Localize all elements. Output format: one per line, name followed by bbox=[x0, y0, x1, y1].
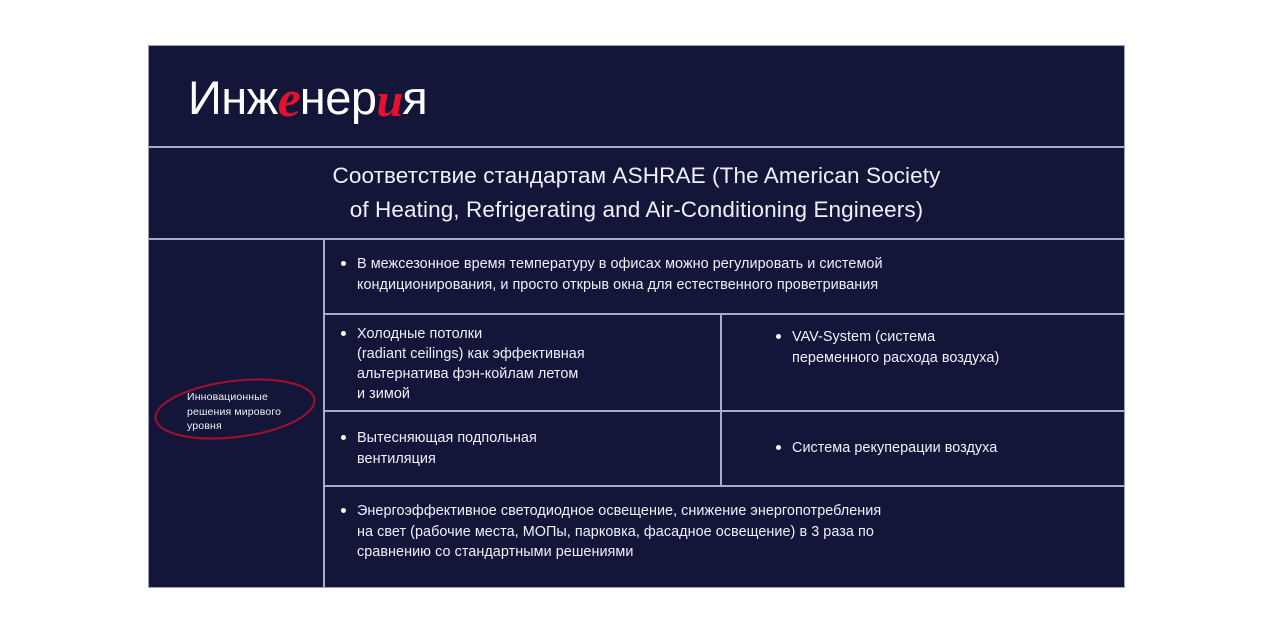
annotation-callout: Инновационные решения мирового уровня bbox=[167, 388, 317, 434]
annotation-line-2: решения мирового bbox=[187, 405, 317, 420]
bullet-row-1: В межсезонное время температуру в офисах… bbox=[325, 240, 1124, 315]
bullet-item: Холодные потолки (radiant ceilings) как … bbox=[341, 324, 585, 404]
bullet-line-1: Энергоэффективное светодиодное освещение… bbox=[357, 503, 881, 519]
bullet-line-1: Холодные потолки bbox=[357, 326, 482, 342]
content-area: Инновационные решения мирового уровня В … bbox=[149, 240, 1124, 587]
bullet-text: Энергоэффективное светодиодное освещение… bbox=[357, 501, 881, 563]
bullet-dot-icon bbox=[776, 334, 781, 339]
bullet-line-2: (radiant ceilings) как эффективная bbox=[357, 346, 585, 362]
bullet-line-2: переменного расхода воздуха) bbox=[792, 350, 999, 366]
bullet-text: Холодные потолки (radiant ceilings) как … bbox=[357, 324, 585, 404]
bullet-item: Система рекуперации воздуха bbox=[776, 438, 997, 459]
bullet-line-4: и зимой bbox=[357, 386, 410, 402]
bullet-row-4: Энергоэффективное светодиодное освещение… bbox=[325, 487, 1124, 587]
logo-band: Инженерия bbox=[149, 46, 1124, 148]
logo-part-4-script: и bbox=[377, 74, 403, 127]
company-logo: Инженерия bbox=[188, 72, 427, 124]
bullet-line-2: вентиляция bbox=[357, 451, 436, 467]
bullet-text: Вытесняющая подпольная вентиляция bbox=[357, 428, 537, 469]
logo-part-3: нер bbox=[300, 71, 377, 124]
bullet-row-3: Вытесняющая подпольная вентиляция Систем… bbox=[325, 412, 1124, 487]
bullet-line-2: на свет (рабочие места, МОПы, парковка, … bbox=[357, 524, 874, 540]
bullet-cell-2-1: Холодные потолки (radiant ceilings) как … bbox=[325, 315, 722, 410]
slide-title-line-1: Соответствие стандартам ASHRAE (The Amer… bbox=[333, 159, 941, 193]
annotation-line-3: уровня bbox=[187, 419, 317, 434]
bullet-line-1: В межсезонное время температуру в офисах… bbox=[357, 256, 883, 272]
bullet-line-1: VAV-System (система bbox=[792, 329, 935, 345]
bullet-item: Энергоэффективное светодиодное освещение… bbox=[341, 501, 881, 563]
bullet-line-1: Система рекуперации воздуха bbox=[792, 440, 997, 456]
bullet-line-1: Вытесняющая подпольная bbox=[357, 430, 537, 446]
annotation-column: Инновационные решения мирового уровня bbox=[149, 240, 325, 587]
bullet-cell-3-1: Вытесняющая подпольная вентиляция bbox=[325, 412, 722, 485]
bullet-cell-3-2: Система рекуперации воздуха bbox=[722, 412, 1124, 485]
bullet-item: VAV-System (система переменного расхода … bbox=[776, 327, 999, 368]
bullet-line-3: сравнению со стандартными решениями bbox=[357, 544, 633, 560]
bullet-cell-4-1: Энергоэффективное светодиодное освещение… bbox=[325, 487, 1124, 587]
bullet-dot-icon bbox=[341, 261, 346, 266]
bullet-cell-2-2: VAV-System (система переменного расхода … bbox=[722, 315, 1124, 410]
bullet-grid: В межсезонное время температуру в офисах… bbox=[325, 240, 1124, 587]
logo-part-2-script: е bbox=[278, 71, 300, 128]
bullet-item: Вытесняющая подпольная вентиляция bbox=[341, 428, 537, 469]
bullet-cell-1-1: В межсезонное время температуру в офисах… bbox=[325, 240, 1124, 313]
slide-title-line-2: of Heating, Refrigerating and Air-Condit… bbox=[350, 193, 924, 227]
bullet-item: В межсезонное время температуру в офисах… bbox=[341, 254, 883, 295]
bullet-dot-icon bbox=[341, 508, 346, 513]
slide-title: Соответствие стандартам ASHRAE (The Amer… bbox=[149, 148, 1124, 240]
bullet-row-2: Холодные потолки (radiant ceilings) как … bbox=[325, 315, 1124, 412]
bullet-text: В межсезонное время температуру в офисах… bbox=[357, 254, 883, 295]
logo-part-5: я bbox=[402, 71, 427, 124]
bullet-text: VAV-System (система переменного расхода … bbox=[792, 327, 999, 368]
page-canvas: Инженерия Соответствие стандартам ASHRAE… bbox=[0, 0, 1280, 639]
bullet-dot-icon bbox=[341, 435, 346, 440]
bullet-text: Система рекуперации воздуха bbox=[792, 438, 997, 459]
bullet-dot-icon bbox=[776, 445, 781, 450]
annotation-line-1: Инновационные bbox=[187, 390, 317, 405]
presentation-slide: Инженерия Соответствие стандартам ASHRAE… bbox=[148, 45, 1125, 588]
bullet-line-2: кондиционирования, и просто открыв окна … bbox=[357, 277, 878, 293]
bullet-dot-icon bbox=[341, 331, 346, 336]
annotation-text: Инновационные решения мирового уровня bbox=[167, 388, 317, 434]
bullet-line-3: альтернатива фэн-койлам летом bbox=[357, 366, 578, 382]
logo-part-1: Инж bbox=[188, 71, 278, 124]
